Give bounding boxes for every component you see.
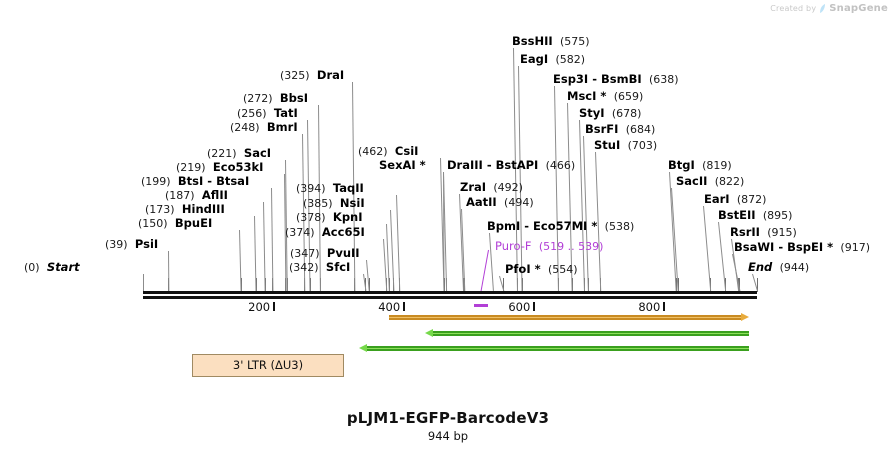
wpre-arrow[interactable]	[359, 344, 749, 353]
ruler-tick-label: 800	[638, 300, 663, 314]
site-position: (917)	[840, 241, 870, 254]
site-name: DraIII - BstAPI	[447, 158, 538, 172]
site-name: Esp3I - BsmBI	[553, 72, 642, 86]
site-name: BtsI - BtsaI	[178, 174, 249, 188]
site-name: BmrI	[267, 120, 298, 134]
site-label-tati[interactable]: (256) TatI	[237, 107, 298, 120]
site-position: (575)	[560, 35, 590, 48]
site-label-bmri[interactable]: (248) BmrI	[230, 121, 298, 134]
feature-3prime-ltr[interactable]: 3' LTR (ΔU3)	[192, 354, 344, 377]
site-label-eco53ki[interactable]: (219) Eco53kI	[176, 161, 263, 174]
site-name: TaqII	[333, 181, 364, 195]
site-position: (638)	[649, 73, 679, 86]
site-label-bbsi[interactable]: (272) BbsI	[243, 92, 308, 105]
site-position: (378)	[296, 211, 326, 224]
site-position: (248)	[230, 121, 260, 134]
site-name: MscI *	[567, 89, 606, 103]
site-label-pvuii[interactable]: (347) PvuII	[290, 247, 360, 260]
site-label-zrai[interactable]: ZraI (492)	[460, 181, 523, 194]
site-label-psii[interactable]: (39) PsiI	[105, 238, 158, 251]
site-name: SacI	[244, 146, 271, 160]
site-name: KpnI	[333, 210, 363, 224]
site-name: DraI	[317, 68, 344, 82]
site-label-csii[interactable]: (462) CsiI	[358, 145, 418, 158]
arrow-shaft	[367, 346, 749, 351]
site-label-msci[interactable]: MscI * (659)	[567, 90, 643, 103]
site-label-puro-f[interactable]: Puro-F (519 .. 539)	[495, 240, 603, 253]
site-name: StyI	[579, 106, 605, 120]
site-label-bsawi-bspei[interactable]: BsaWI - BspEI * (917)	[734, 241, 870, 254]
site-label-draiii-bstapi[interactable]: DraIII - BstAPI (466)	[447, 159, 575, 172]
plasmid-length: 944 bp	[0, 429, 896, 443]
site-position: (325)	[280, 69, 310, 82]
snapgene-watermark: Created by SnapGene	[770, 3, 888, 14]
site-label-drai[interactable]: (325) DraI	[280, 69, 344, 82]
site-name: PvuII	[327, 246, 360, 260]
site-position: (582)	[555, 53, 585, 66]
ruler-tick	[663, 302, 665, 311]
restriction-site-labels: (0) Start(39) PsiI(150) BpuEI(173) HindI…	[0, 20, 896, 285]
site-position: (462)	[358, 145, 388, 158]
site-label-esp3i-bsmbi[interactable]: Esp3I - BsmBI (638)	[553, 73, 679, 86]
site-label-saci[interactable]: (221) SacI	[207, 147, 271, 160]
site-position: (659)	[614, 90, 644, 103]
site-label-aflii[interactable]: (187) AflII	[165, 189, 228, 202]
site-label-sexai[interactable]: SexAI *	[379, 159, 426, 172]
site-name: CsiI	[395, 144, 419, 158]
site-name: SexAI *	[379, 158, 426, 172]
site-position: (554)	[548, 263, 578, 276]
site-label-acc65i[interactable]: (374) Acc65I	[285, 226, 365, 239]
site-label-kpni[interactable]: (378) KpnI	[296, 211, 363, 224]
site-name: PfoI *	[505, 262, 541, 276]
arrow-head-icon	[359, 344, 367, 352]
site-position: (466)	[546, 159, 576, 172]
site-name: Start	[47, 260, 80, 274]
site-label-hindiii[interactable]: (173) HindIII	[145, 203, 225, 216]
site-name: SfcI	[326, 260, 350, 274]
ruler-tick-label: 200	[248, 300, 273, 314]
site-label-bsteii[interactable]: BstEII (895)	[718, 209, 792, 222]
site-position: (342)	[289, 261, 319, 274]
site-position: (272)	[243, 92, 273, 105]
watermark-prefix: Created by	[770, 4, 816, 13]
site-position: (819)	[702, 159, 732, 172]
site-name: HindIII	[182, 202, 225, 216]
site-position: (872)	[737, 193, 767, 206]
site-label-pfoi[interactable]: PfoI * (554)	[505, 263, 578, 276]
site-name: BbsI	[280, 91, 308, 105]
site-position: (678)	[612, 107, 642, 120]
site-name: AflII	[202, 188, 228, 202]
site-label-bpuei[interactable]: (150) BpuEI	[138, 217, 212, 230]
arrow-head-icon	[425, 329, 433, 337]
site-name: BpuEI	[175, 216, 212, 230]
site-name: NsiI	[340, 196, 365, 210]
sequence-line-bottom	[143, 296, 757, 299]
site-name: BstEII	[718, 208, 756, 222]
site-name: End	[748, 260, 772, 274]
site-position: (944)	[780, 261, 810, 274]
sequence-line-top	[143, 291, 757, 294]
site-position: (0)	[24, 261, 40, 274]
site-label-eagi[interactable]: EagI (582)	[520, 53, 585, 66]
site-label-bsrfi[interactable]: BsrFI (684)	[585, 123, 655, 136]
site-position: (374)	[285, 226, 315, 239]
site-name: EagI	[520, 52, 548, 66]
cppt-cts-arrow[interactable]	[425, 329, 749, 338]
watermark-brand: SnapGene	[829, 3, 888, 14]
site-position: (684)	[626, 123, 656, 136]
site-position: (347)	[290, 247, 320, 260]
primer-marker-puro-f[interactable]	[474, 304, 488, 307]
site-position: (385)	[303, 197, 333, 210]
site-label-bsshii[interactable]: BssHII (575)	[512, 35, 590, 48]
site-position: (519 .. 539)	[539, 240, 604, 253]
site-label-sfci[interactable]: (342) SfcI	[289, 261, 350, 274]
site-label-end[interactable]: End (944)	[748, 261, 809, 274]
site-name: PsiI	[135, 237, 158, 251]
site-label-nsii[interactable]: (385) NsiI	[303, 197, 365, 210]
site-position: (394)	[296, 182, 326, 195]
site-label-styi[interactable]: StyI (678)	[579, 107, 641, 120]
site-name: BsaWI - BspEI *	[734, 240, 833, 254]
site-name: BpmI - Eco57MI *	[487, 219, 597, 233]
site-label-aatii[interactable]: AatII (494)	[466, 196, 534, 209]
arrow-shaft	[389, 315, 741, 320]
site-name: TatI	[274, 106, 298, 120]
site-position: (494)	[504, 196, 534, 209]
site-position: (219)	[176, 161, 206, 174]
plasmid-map: Created by SnapGene (0) Start(39) PsiI(1…	[0, 0, 896, 449]
ruler-tick-label: 600	[508, 300, 533, 314]
site-position: (221)	[207, 147, 237, 160]
site-position: (187)	[165, 189, 195, 202]
site-name: Eco53kI	[213, 160, 264, 174]
site-name: EarI	[704, 192, 730, 206]
arrow-shaft	[433, 331, 749, 336]
site-label-start[interactable]: (0) Start	[24, 261, 80, 274]
site-label-bpmi-eco57mi[interactable]: BpmI - Eco57MI * (538)	[487, 220, 634, 233]
site-position: (492)	[493, 181, 523, 194]
site-name: BtgI	[668, 158, 695, 172]
site-name: Acc65I	[322, 225, 365, 239]
arrow-head-icon	[741, 313, 749, 321]
ruler-tick	[273, 302, 275, 311]
site-position: (915)	[767, 226, 797, 239]
site-position: (150)	[138, 217, 168, 230]
site-name: RsrII	[730, 225, 760, 239]
site-name: ZraI	[460, 180, 486, 194]
site-label-taqii[interactable]: (394) TaqII	[296, 182, 364, 195]
site-label-sacii[interactable]: SacII (822)	[676, 175, 744, 188]
site-position: (822)	[715, 175, 745, 188]
site-name: Puro-F	[495, 239, 532, 253]
site-name: StuI	[594, 138, 620, 152]
site-name: AatII	[466, 195, 497, 209]
site-position: (703)	[628, 139, 658, 152]
site-label-rsrii[interactable]: RsrII (915)	[730, 226, 797, 239]
site-label-eari[interactable]: EarI (872)	[704, 193, 766, 206]
ruler-tick	[403, 302, 405, 311]
site-name: SacII	[676, 174, 707, 188]
ruler-tick-label: 400	[378, 300, 403, 314]
site-name: BssHII	[512, 34, 553, 48]
site-name: BsrFI	[585, 122, 618, 136]
site-label-btgi[interactable]: BtgI (819)	[668, 159, 732, 172]
page-title: pLJM1-EGFP-BarcodeV3	[0, 409, 896, 427]
site-position: (173)	[145, 203, 175, 216]
site-position: (39)	[105, 238, 128, 251]
puromycin-resistance-arrow[interactable]	[389, 313, 749, 322]
site-position: (538)	[605, 220, 635, 233]
ruler-tick	[533, 302, 535, 311]
site-label-stui[interactable]: StuI (703)	[594, 139, 657, 152]
site-position: (256)	[237, 107, 267, 120]
site-position: (199)	[141, 175, 171, 188]
site-position: (895)	[763, 209, 793, 222]
site-label-btsi-btsai[interactable]: (199) BtsI - BtsaI	[141, 175, 249, 188]
snapgene-leaf-icon	[819, 4, 826, 14]
